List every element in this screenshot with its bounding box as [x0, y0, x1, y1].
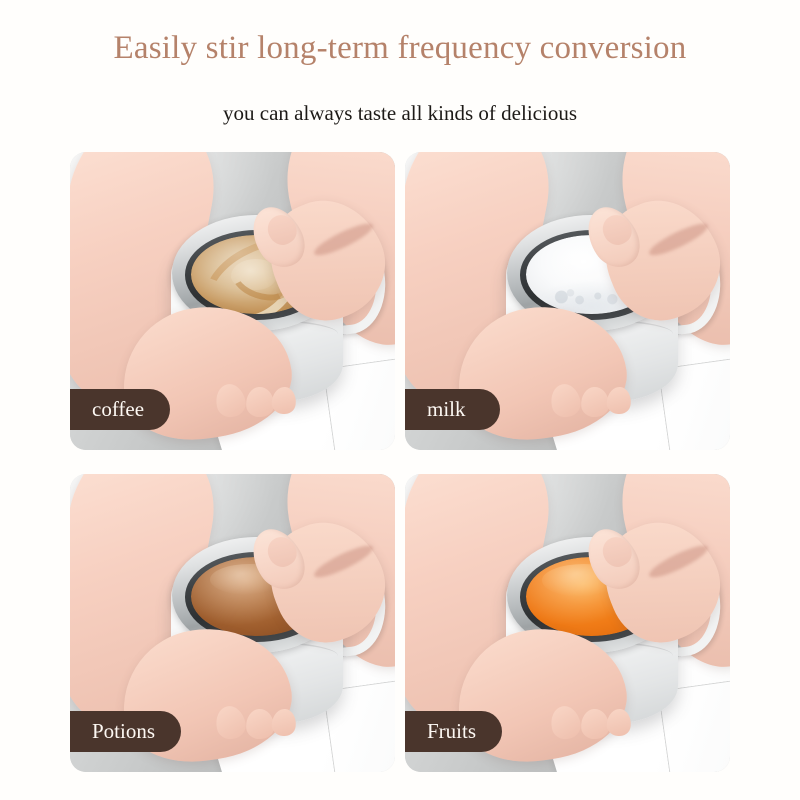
fingertip [244, 708, 274, 740]
page-title: Easily stir long-term frequency conversi… [0, 30, 800, 67]
photo-panel-potions[interactable]: Potions [70, 474, 395, 772]
fingertip [579, 708, 609, 740]
fingertip [579, 386, 609, 418]
label-badge-potions: Potions [70, 711, 181, 752]
photo-panel-milk[interactable]: milk [405, 152, 730, 450]
label-badge-milk: milk [405, 389, 500, 430]
label-text: coffee [92, 399, 144, 420]
label-text: Potions [92, 721, 155, 742]
label-badge-fruits: Fruits [405, 711, 502, 752]
beverage-photo-grid: coffee [70, 152, 730, 772]
label-text: milk [427, 399, 466, 420]
page-header: Easily stir long-term frequency conversi… [0, 0, 800, 148]
page-subtitle: you can always taste all kinds of delici… [0, 101, 800, 126]
fingertip [244, 386, 274, 418]
product-feature-page: Easily stir long-term frequency conversi… [0, 0, 800, 800]
label-badge-coffee: coffee [70, 389, 170, 430]
photo-panel-fruits[interactable]: Fruits [405, 474, 730, 772]
label-text: Fruits [427, 721, 476, 742]
photo-panel-coffee[interactable]: coffee [70, 152, 395, 450]
